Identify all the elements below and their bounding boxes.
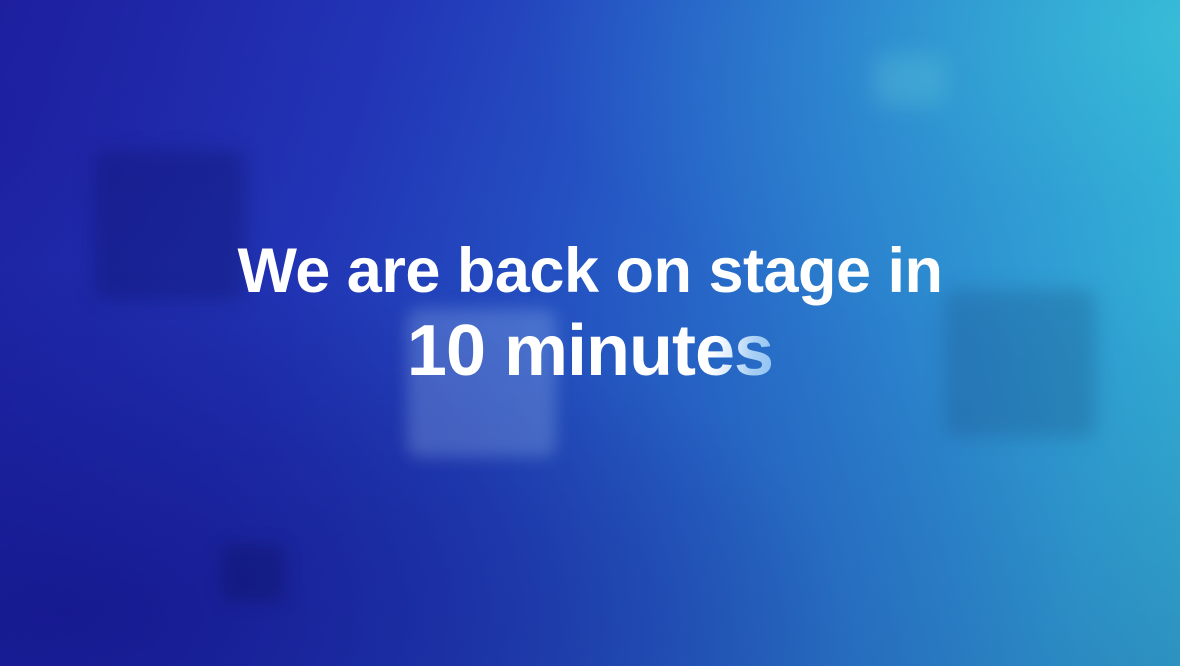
countdown-text-fade-tail: es [695, 311, 773, 391]
break-message-line-2: 10 minutes [0, 310, 1180, 392]
break-message-line-1: We are back on stage in [0, 232, 1180, 310]
break-message: We are back on stage in 10 minutes [0, 232, 1180, 392]
break-slide: We are back on stage in 10 minutes [0, 0, 1180, 666]
countdown-text: 10 minut [407, 311, 695, 391]
